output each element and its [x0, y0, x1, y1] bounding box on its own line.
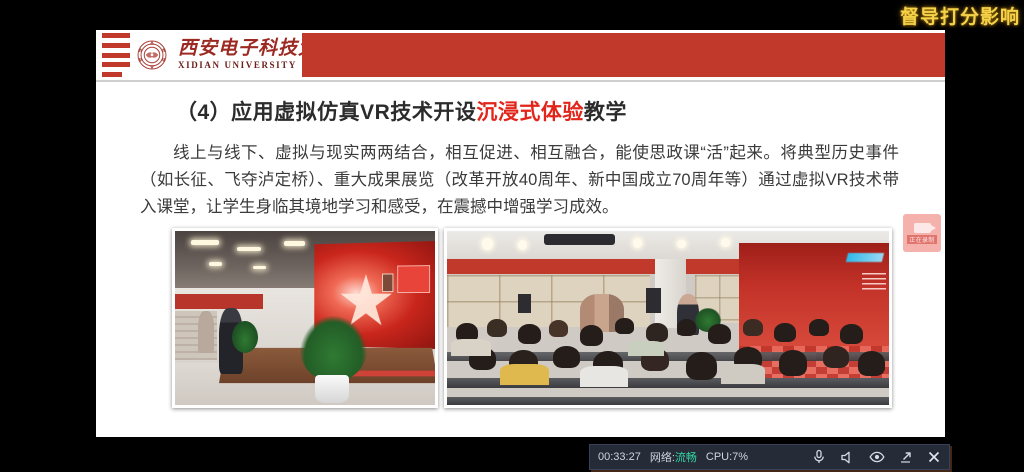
close-icon[interactable] — [927, 450, 941, 464]
network-value: 流畅 — [675, 452, 697, 464]
slide-title-highlight: 沉浸式体验 — [476, 101, 584, 124]
photo-lecture-hall — [444, 228, 892, 408]
expand-icon[interactable] — [899, 450, 913, 464]
screen-root: 督导打分影响 — [0, 0, 1024, 472]
header-red-band — [302, 33, 945, 77]
stripes-decoration — [102, 33, 130, 77]
slide-paragraph: 线上与线下、虚拟与现实两两结合，相互促进、相互融合，能使思政课“活”起来。将典型… — [140, 140, 899, 221]
session-status-bar[interactable]: 00:33:27 网络:流畅 CPU:7% — [589, 444, 950, 470]
marquee-text: 督导打分影响 — [900, 2, 1024, 28]
marquee-banner: 督导打分影响 — [0, 0, 1024, 28]
eye-icon[interactable] — [869, 450, 885, 464]
cpu-usage: CPU:7% — [706, 451, 748, 463]
slide-header: 西安电子科技大学 XIDIAN UNIVERSITY — [96, 30, 945, 80]
speaker-icon[interactable] — [840, 450, 855, 465]
university-seal-icon — [134, 37, 170, 73]
camera-icon — [914, 223, 931, 233]
microphone-icon[interactable] — [812, 449, 826, 465]
network-status: 网络:流畅 — [650, 449, 697, 465]
status-text-group: 00:33:27 网络:流畅 CPU:7% — [598, 449, 748, 465]
slide-photo-row — [172, 228, 892, 408]
slide-title: （4）应用虚拟仿真VR技术开设沉浸式体验教学 — [176, 96, 915, 126]
slide-title-suffix: 教学 — [584, 101, 627, 124]
elapsed-time: 00:33:27 — [598, 451, 641, 463]
status-icon-group — [812, 449, 941, 465]
network-label: 网络: — [650, 452, 675, 464]
presentation-slide[interactable]: 西安电子科技大学 XIDIAN UNIVERSITY （4）应用虚拟仿真VR技术… — [96, 30, 945, 437]
slide-body: （4）应用虚拟仿真VR技术开设沉浸式体验教学 线上与线下、虚拟与现实两两结合，相… — [96, 96, 945, 221]
slide-title-prefix: （4）应用虚拟仿真VR技术开设 — [176, 101, 476, 124]
header-divider — [96, 80, 945, 82]
recording-indicator[interactable]: 正在录制 — [903, 214, 941, 252]
recording-label: 正在录制 — [907, 235, 936, 244]
photo-exhibition-hall — [172, 228, 438, 408]
